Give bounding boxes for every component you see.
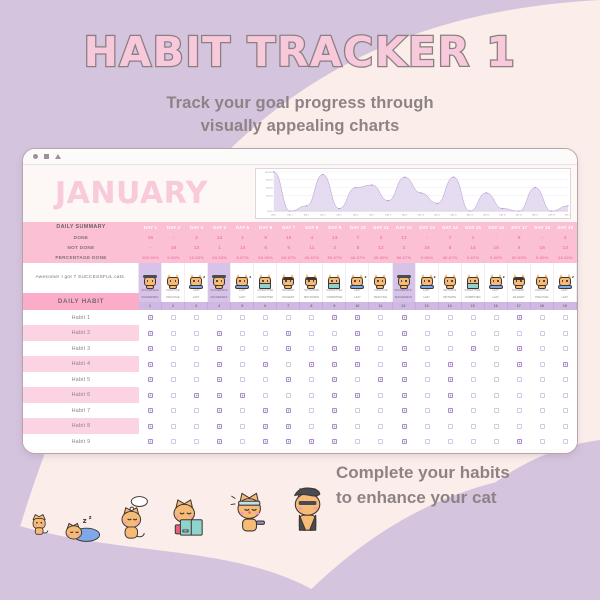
habit-name-cell[interactable]: Habit 3 (23, 341, 139, 357)
checkbox-unchecked-icon[interactable] (194, 377, 199, 382)
habit-checkbox-cell[interactable] (323, 408, 346, 413)
habit-checkbox-cell[interactable] (300, 393, 323, 398)
checkbox-checked-icon[interactable] (217, 408, 222, 413)
checkbox-unchecked-icon[interactable] (425, 346, 430, 351)
habit-checkbox-cell[interactable] (185, 362, 208, 367)
habit-checkbox-cell[interactable] (139, 408, 162, 413)
habit-checkbox-cell[interactable] (554, 315, 577, 320)
cat-sticker-cell[interactable]: COMMITTED (462, 263, 485, 293)
habit-checkbox-cell[interactable] (323, 377, 346, 382)
habit-checkbox-cell[interactable] (231, 393, 254, 398)
cat-sticker-cell[interactable]: zLAZY (185, 263, 208, 293)
habit-checkbox-cell[interactable] (439, 331, 462, 336)
habit-checkbox-cell[interactable] (462, 315, 485, 320)
habit-checkbox-cell[interactable] (231, 315, 254, 320)
habit-checkbox-cell[interactable] (254, 315, 277, 320)
habit-checkbox-cell[interactable] (254, 362, 277, 367)
habit-checkbox-cell[interactable] (369, 408, 392, 413)
checkbox-unchecked-icon[interactable] (494, 315, 499, 320)
circle-icon[interactable] (33, 154, 38, 159)
checkbox-unchecked-icon[interactable] (309, 408, 314, 413)
habit-name-cell[interactable]: Habit 9 (23, 434, 139, 450)
habit-checkbox-cell[interactable] (277, 315, 300, 320)
checkbox-unchecked-icon[interactable] (471, 377, 476, 382)
habit-checkbox-cell[interactable] (554, 331, 577, 336)
checkbox-unchecked-icon[interactable] (171, 377, 176, 382)
habit-checkbox-cell[interactable] (531, 424, 554, 429)
checkbox-checked-icon[interactable] (217, 393, 222, 398)
checkbox-checked-icon[interactable] (517, 315, 522, 320)
progress-chart[interactable]: 100.00%80.00%60.00%40.00%0.00%DAY 1DAY 2… (255, 168, 571, 219)
habit-checkbox-cell[interactable] (300, 424, 323, 429)
habit-checkbox-cell[interactable] (508, 393, 531, 398)
checkbox-unchecked-icon[interactable] (540, 346, 545, 351)
checkbox-checked-icon[interactable] (217, 346, 222, 351)
habit-checkbox-cell[interactable] (369, 362, 392, 367)
checkbox-unchecked-icon[interactable] (378, 439, 383, 444)
checkbox-unchecked-icon[interactable] (494, 393, 499, 398)
habit-checkbox-cell[interactable] (369, 424, 392, 429)
habit-checkbox-cell[interactable] (393, 424, 416, 429)
cat-sticker-cell[interactable]: PRACTICE (162, 263, 185, 293)
checkbox-checked-icon[interactable] (148, 393, 153, 398)
habit-checkbox-cell[interactable] (346, 439, 369, 444)
checkbox-unchecked-icon[interactable] (309, 346, 314, 351)
checkbox-checked-icon[interactable] (402, 315, 407, 320)
habit-checkbox-cell[interactable] (508, 439, 531, 444)
checkbox-checked-icon[interactable] (217, 362, 222, 367)
checkbox-unchecked-icon[interactable] (355, 439, 360, 444)
checkbox-checked-icon[interactable] (355, 331, 360, 336)
habit-checkbox-cell[interactable] (346, 393, 369, 398)
habit-checkbox-cell[interactable] (369, 393, 392, 398)
checkbox-checked-icon[interactable] (517, 346, 522, 351)
checkbox-checked-icon[interactable] (332, 408, 337, 413)
habit-checkbox-cell[interactable] (485, 315, 508, 320)
checkbox-unchecked-icon[interactable] (171, 362, 176, 367)
checkbox-unchecked-icon[interactable] (425, 315, 430, 320)
habit-checkbox-cell[interactable] (531, 315, 554, 320)
checkbox-checked-icon[interactable] (517, 362, 522, 367)
habit-checkbox-cell[interactable] (139, 362, 162, 367)
checkbox-checked-icon[interactable] (355, 393, 360, 398)
checkbox-checked-icon[interactable] (402, 424, 407, 429)
checkbox-unchecked-icon[interactable] (563, 424, 568, 429)
checkbox-unchecked-icon[interactable] (448, 315, 453, 320)
checkbox-unchecked-icon[interactable] (286, 362, 291, 367)
checkbox-unchecked-icon[interactable] (194, 439, 199, 444)
checkbox-checked-icon[interactable] (309, 439, 314, 444)
habit-checkbox-cell[interactable] (416, 439, 439, 444)
habit-checkbox-cell[interactable] (300, 331, 323, 336)
habit-checkbox-cell[interactable] (462, 424, 485, 429)
habit-name-cell[interactable]: Habit 4 (23, 356, 139, 372)
checkbox-unchecked-icon[interactable] (540, 439, 545, 444)
checkbox-checked-icon[interactable] (194, 393, 199, 398)
checkbox-unchecked-icon[interactable] (378, 331, 383, 336)
checkbox-unchecked-icon[interactable] (194, 315, 199, 320)
checkbox-checked-icon[interactable] (448, 362, 453, 367)
checkbox-unchecked-icon[interactable] (563, 393, 568, 398)
habit-checkbox-cell[interactable] (508, 408, 531, 413)
checkbox-checked-icon[interactable] (148, 424, 153, 429)
habit-checkbox-cell[interactable] (185, 393, 208, 398)
habit-checkbox-cell[interactable] (393, 377, 416, 382)
checkbox-unchecked-icon[interactable] (517, 408, 522, 413)
habit-checkbox-cell[interactable] (462, 331, 485, 336)
checkbox-checked-icon[interactable] (332, 315, 337, 320)
cat-sticker-cell[interactable]: MOTIVATED (300, 263, 323, 293)
checkbox-checked-icon[interactable] (448, 393, 453, 398)
checkbox-checked-icon[interactable] (286, 439, 291, 444)
checkbox-unchecked-icon[interactable] (425, 408, 430, 413)
checkbox-unchecked-icon[interactable] (332, 331, 337, 336)
checkbox-unchecked-icon[interactable] (471, 315, 476, 320)
habit-checkbox-cell[interactable] (208, 424, 231, 429)
checkbox-unchecked-icon[interactable] (286, 315, 291, 320)
habit-checkbox-cell[interactable] (346, 315, 369, 320)
checkbox-unchecked-icon[interactable] (563, 439, 568, 444)
habit-checkbox-cell[interactable] (300, 315, 323, 320)
habit-checkbox-cell[interactable] (531, 393, 554, 398)
checkbox-unchecked-icon[interactable] (471, 393, 476, 398)
checkbox-unchecked-icon[interactable] (263, 393, 268, 398)
checkbox-unchecked-icon[interactable] (540, 424, 545, 429)
cat-sticker-cell[interactable]: MOTIVATE (439, 263, 462, 293)
habit-checkbox-cell[interactable] (254, 393, 277, 398)
habit-checkbox-cell[interactable] (185, 439, 208, 444)
habit-checkbox-cell[interactable] (208, 439, 231, 444)
checkbox-unchecked-icon[interactable] (309, 377, 314, 382)
checkbox-checked-icon[interactable] (240, 393, 245, 398)
checkbox-unchecked-icon[interactable] (517, 331, 522, 336)
habit-checkbox-cell[interactable] (254, 439, 277, 444)
habit-checkbox-cell[interactable] (393, 393, 416, 398)
checkbox-checked-icon[interactable] (332, 439, 337, 444)
checkbox-checked-icon[interactable] (332, 346, 337, 351)
habit-checkbox-cell[interactable] (416, 362, 439, 367)
checkbox-unchecked-icon[interactable] (517, 424, 522, 429)
checkbox-checked-icon[interactable] (332, 393, 337, 398)
checkbox-unchecked-icon[interactable] (263, 377, 268, 382)
habit-checkbox-cell[interactable] (323, 331, 346, 336)
checkbox-checked-icon[interactable] (402, 377, 407, 382)
cat-sticker-cell[interactable]: SUCCESSFUL (139, 263, 162, 293)
checkbox-unchecked-icon[interactable] (194, 331, 199, 336)
cat-sticker-cell[interactable]: zLAZY (485, 263, 508, 293)
habit-checkbox-cell[interactable] (139, 439, 162, 444)
habit-checkbox-cell[interactable] (531, 408, 554, 413)
habit-checkbox-cell[interactable] (346, 346, 369, 351)
checkbox-checked-icon[interactable] (286, 424, 291, 429)
checkbox-unchecked-icon[interactable] (494, 377, 499, 382)
habit-checkbox-cell[interactable] (231, 331, 254, 336)
checkbox-unchecked-icon[interactable] (194, 424, 199, 429)
cat-sticker-cell[interactable]: COMMITTED (254, 263, 277, 293)
habit-checkbox-cell[interactable] (462, 408, 485, 413)
habit-checkbox-cell[interactable] (254, 408, 277, 413)
checkbox-checked-icon[interactable] (148, 331, 153, 336)
cat-sticker-cell[interactable]: zLAZY (416, 263, 439, 293)
habit-checkbox-cell[interactable] (231, 439, 254, 444)
habit-checkbox-cell[interactable] (531, 346, 554, 351)
checkbox-checked-icon[interactable] (148, 377, 153, 382)
checkbox-unchecked-icon[interactable] (448, 346, 453, 351)
habit-checkbox-cell[interactable] (185, 424, 208, 429)
checkbox-unchecked-icon[interactable] (355, 424, 360, 429)
checkbox-unchecked-icon[interactable] (425, 331, 430, 336)
checkbox-checked-icon[interactable] (402, 393, 407, 398)
checkbox-unchecked-icon[interactable] (378, 315, 383, 320)
checkbox-checked-icon[interactable] (148, 315, 153, 320)
checkbox-unchecked-icon[interactable] (494, 331, 499, 336)
cat-sticker-cell[interactable]: zLAZY (231, 263, 254, 293)
checkbox-unchecked-icon[interactable] (309, 315, 314, 320)
checkbox-checked-icon[interactable] (355, 346, 360, 351)
checkbox-unchecked-icon[interactable] (494, 362, 499, 367)
habit-checkbox-cell[interactable] (254, 331, 277, 336)
habit-checkbox-cell[interactable] (416, 408, 439, 413)
habit-checkbox-cell[interactable] (485, 377, 508, 382)
habit-checkbox-cell[interactable] (369, 315, 392, 320)
habit-checkbox-cell[interactable] (300, 408, 323, 413)
checkbox-unchecked-icon[interactable] (563, 315, 568, 320)
checkbox-checked-icon[interactable] (402, 346, 407, 351)
habit-checkbox-cell[interactable] (439, 393, 462, 398)
habit-checkbox-cell[interactable] (416, 331, 439, 336)
checkbox-checked-icon[interactable] (332, 377, 337, 382)
checkbox-unchecked-icon[interactable] (563, 331, 568, 336)
checkbox-checked-icon[interactable] (217, 331, 222, 336)
checkbox-unchecked-icon[interactable] (425, 362, 430, 367)
habit-checkbox-cell[interactable] (300, 346, 323, 351)
checkbox-unchecked-icon[interactable] (494, 346, 499, 351)
checkbox-unchecked-icon[interactable] (240, 362, 245, 367)
checkbox-checked-icon[interactable] (286, 346, 291, 351)
checkbox-unchecked-icon[interactable] (171, 315, 176, 320)
checkbox-checked-icon[interactable] (217, 439, 222, 444)
checkbox-unchecked-icon[interactable] (263, 346, 268, 351)
checkbox-checked-icon[interactable] (263, 439, 268, 444)
habit-checkbox-cell[interactable] (485, 424, 508, 429)
habit-checkbox-cell[interactable] (393, 346, 416, 351)
habit-checkbox-cell[interactable] (508, 331, 531, 336)
cat-sticker-cell[interactable]: zLAZY (346, 263, 369, 293)
cat-sticker-cell[interactable]: PRACTICE (369, 263, 392, 293)
checkbox-unchecked-icon[interactable] (355, 408, 360, 413)
checkbox-unchecked-icon[interactable] (425, 424, 430, 429)
habit-checkbox-cell[interactable] (554, 424, 577, 429)
checkbox-unchecked-icon[interactable] (263, 315, 268, 320)
checkbox-checked-icon[interactable] (263, 408, 268, 413)
habit-name-cell[interactable]: Habit 1 (23, 310, 139, 326)
habit-checkbox-cell[interactable] (416, 346, 439, 351)
habit-checkbox-cell[interactable] (393, 331, 416, 336)
habit-checkbox-cell[interactable] (208, 331, 231, 336)
checkbox-unchecked-icon[interactable] (540, 331, 545, 336)
habit-checkbox-cell[interactable] (531, 331, 554, 336)
habit-checkbox-cell[interactable] (185, 315, 208, 320)
habit-checkbox-cell[interactable] (554, 439, 577, 444)
habit-checkbox-cell[interactable] (162, 408, 185, 413)
checkbox-checked-icon[interactable] (286, 377, 291, 382)
habit-checkbox-cell[interactable] (208, 362, 231, 367)
habit-checkbox-cell[interactable] (369, 331, 392, 336)
checkbox-checked-icon[interactable] (448, 377, 453, 382)
habit-checkbox-cell[interactable] (393, 362, 416, 367)
checkbox-unchecked-icon[interactable] (471, 362, 476, 367)
habit-checkbox-cell[interactable] (439, 315, 462, 320)
habit-checkbox-cell[interactable] (554, 377, 577, 382)
habit-checkbox-cell[interactable] (300, 362, 323, 367)
checkbox-checked-icon[interactable] (286, 331, 291, 336)
checkbox-unchecked-icon[interactable] (286, 393, 291, 398)
habit-checkbox-cell[interactable] (393, 315, 416, 320)
habit-name-cell[interactable]: Habit 5 (23, 372, 139, 388)
habit-checkbox-cell[interactable] (277, 346, 300, 351)
habit-checkbox-cell[interactable] (554, 408, 577, 413)
checkbox-unchecked-icon[interactable] (540, 315, 545, 320)
habit-checkbox-cell[interactable] (439, 408, 462, 413)
checkbox-unchecked-icon[interactable] (355, 377, 360, 382)
habit-checkbox-cell[interactable] (462, 362, 485, 367)
cat-sticker-cell[interactable]: zLAZY (554, 263, 577, 293)
habit-checkbox-cell[interactable] (554, 346, 577, 351)
checkbox-unchecked-icon[interactable] (563, 377, 568, 382)
habit-checkbox-cell[interactable] (277, 439, 300, 444)
habit-checkbox-cell[interactable] (369, 377, 392, 382)
checkbox-unchecked-icon[interactable] (517, 377, 522, 382)
habit-checkbox-cell[interactable] (485, 346, 508, 351)
checkbox-checked-icon[interactable] (355, 315, 360, 320)
habit-checkbox-cell[interactable] (554, 362, 577, 367)
habit-checkbox-cell[interactable] (485, 331, 508, 336)
habit-name-cell[interactable]: Habit 6 (23, 387, 139, 403)
checkbox-checked-icon[interactable] (148, 362, 153, 367)
habit-checkbox-cell[interactable] (508, 315, 531, 320)
checkbox-unchecked-icon[interactable] (240, 315, 245, 320)
habit-checkbox-cell[interactable] (485, 439, 508, 444)
habit-checkbox-cell[interactable] (393, 408, 416, 413)
habit-checkbox-cell[interactable] (462, 439, 485, 444)
checkbox-unchecked-icon[interactable] (240, 346, 245, 351)
cat-sticker-cell[interactable]: DILIGENT (508, 263, 531, 293)
checkbox-checked-icon[interactable] (517, 439, 522, 444)
checkbox-checked-icon[interactable] (332, 424, 337, 429)
habit-checkbox-cell[interactable] (485, 362, 508, 367)
habit-checkbox-cell[interactable] (231, 377, 254, 382)
habit-name-cell[interactable]: Habit 7 (23, 403, 139, 419)
habit-checkbox-cell[interactable] (554, 393, 577, 398)
habit-checkbox-cell[interactable] (277, 362, 300, 367)
checkbox-unchecked-icon[interactable] (263, 331, 268, 336)
habit-checkbox-cell[interactable] (185, 346, 208, 351)
checkbox-unchecked-icon[interactable] (171, 439, 176, 444)
habit-checkbox-cell[interactable] (162, 346, 185, 351)
checkbox-unchecked-icon[interactable] (517, 393, 522, 398)
checkbox-checked-icon[interactable] (378, 377, 383, 382)
habit-checkbox-cell[interactable] (139, 424, 162, 429)
checkbox-checked-icon[interactable] (263, 424, 268, 429)
checkbox-unchecked-icon[interactable] (563, 408, 568, 413)
habit-checkbox-cell[interactable] (369, 439, 392, 444)
habit-checkbox-cell[interactable] (162, 424, 185, 429)
checkbox-checked-icon[interactable] (471, 346, 476, 351)
habit-checkbox-cell[interactable] (439, 424, 462, 429)
habit-checkbox-cell[interactable] (162, 331, 185, 336)
checkbox-unchecked-icon[interactable] (448, 424, 453, 429)
habit-checkbox-cell[interactable] (323, 346, 346, 351)
habit-checkbox-cell[interactable] (508, 424, 531, 429)
checkbox-unchecked-icon[interactable] (494, 439, 499, 444)
habit-checkbox-cell[interactable] (531, 439, 554, 444)
habit-checkbox-cell[interactable] (462, 346, 485, 351)
checkbox-unchecked-icon[interactable] (171, 393, 176, 398)
cat-sticker-cell[interactable]: SUCCESSFUL (393, 263, 416, 293)
checkbox-unchecked-icon[interactable] (563, 346, 568, 351)
habit-checkbox-cell[interactable] (162, 315, 185, 320)
checkbox-checked-icon[interactable] (402, 408, 407, 413)
habit-checkbox-cell[interactable] (208, 393, 231, 398)
checkbox-unchecked-icon[interactable] (309, 393, 314, 398)
checkbox-unchecked-icon[interactable] (171, 408, 176, 413)
habit-checkbox-cell[interactable] (277, 408, 300, 413)
habit-name-cell[interactable]: Habit 8 (23, 418, 139, 434)
habit-checkbox-cell[interactable] (162, 377, 185, 382)
triangle-icon[interactable] (55, 154, 61, 159)
habit-checkbox-cell[interactable] (231, 408, 254, 413)
cat-sticker-cell[interactable]: SUCCESSFUL (208, 263, 231, 293)
checkbox-unchecked-icon[interactable] (378, 393, 383, 398)
checkbox-checked-icon[interactable] (217, 377, 222, 382)
habit-checkbox-cell[interactable] (323, 362, 346, 367)
habit-checkbox-cell[interactable] (416, 393, 439, 398)
habit-checkbox-cell[interactable] (162, 362, 185, 367)
checkbox-unchecked-icon[interactable] (378, 346, 383, 351)
checkbox-unchecked-icon[interactable] (425, 393, 430, 398)
habit-checkbox-cell[interactable] (323, 424, 346, 429)
checkbox-unchecked-icon[interactable] (448, 439, 453, 444)
checkbox-checked-icon[interactable] (402, 439, 407, 444)
habit-checkbox-cell[interactable] (346, 408, 369, 413)
habit-checkbox-cell[interactable] (323, 315, 346, 320)
checkbox-unchecked-icon[interactable] (240, 439, 245, 444)
checkbox-unchecked-icon[interactable] (309, 331, 314, 336)
habit-checkbox-cell[interactable] (254, 377, 277, 382)
habit-checkbox-cell[interactable] (369, 346, 392, 351)
habit-checkbox-cell[interactable] (485, 393, 508, 398)
checkbox-unchecked-icon[interactable] (171, 424, 176, 429)
habit-checkbox-cell[interactable] (439, 362, 462, 367)
habit-checkbox-cell[interactable] (346, 377, 369, 382)
habit-checkbox-cell[interactable] (416, 424, 439, 429)
checkbox-unchecked-icon[interactable] (540, 393, 545, 398)
checkbox-checked-icon[interactable] (402, 331, 407, 336)
checkbox-checked-icon[interactable] (563, 362, 568, 367)
checkbox-unchecked-icon[interactable] (471, 439, 476, 444)
habit-checkbox-cell[interactable] (416, 315, 439, 320)
checkbox-unchecked-icon[interactable] (378, 424, 383, 429)
checkbox-checked-icon[interactable] (448, 408, 453, 413)
checkbox-unchecked-icon[interactable] (494, 424, 499, 429)
checkbox-unchecked-icon[interactable] (194, 362, 199, 367)
habit-checkbox-cell[interactable] (208, 315, 231, 320)
habit-checkbox-cell[interactable] (139, 346, 162, 351)
checkbox-unchecked-icon[interactable] (494, 408, 499, 413)
habit-checkbox-cell[interactable] (462, 377, 485, 382)
habit-checkbox-cell[interactable] (393, 439, 416, 444)
checkbox-unchecked-icon[interactable] (240, 377, 245, 382)
